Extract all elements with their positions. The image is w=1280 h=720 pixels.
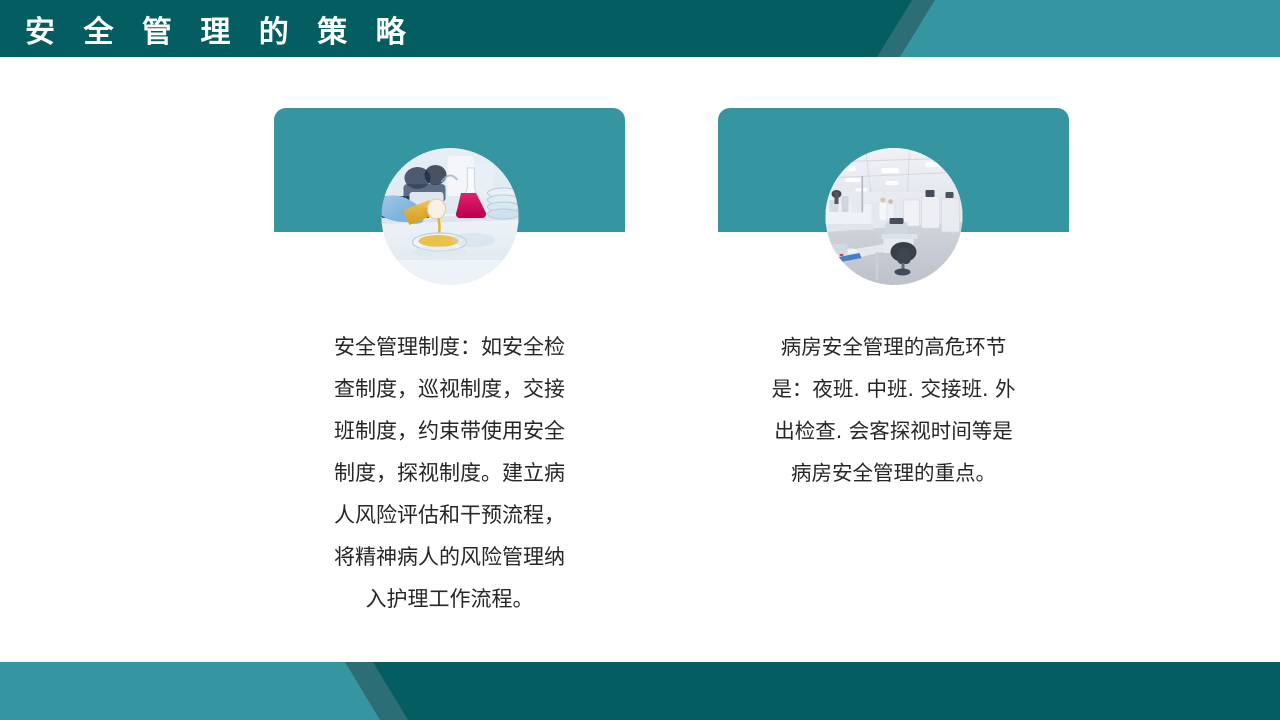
content-column-right: 病房安全管理的高危环节 是：夜班. 中班. 交接班. 外 出检查. 会客探视时间… [718, 108, 1069, 232]
hospital-ward-photo [825, 148, 962, 285]
slide-canvas: 安 全 管 理 的 策 略 [0, 0, 1280, 720]
header-bar: 安 全 管 理 的 策 略 [0, 0, 1280, 57]
left-body-text: 安全管理制度：如安全检 查制度，巡视制度，交接 班制度，约束带使用安全 制度，探… [274, 326, 625, 620]
laboratory-pipetting-photo [381, 148, 518, 285]
content-column-left: 安全管理制度：如安全检 查制度，巡视制度，交接 班制度，约束带使用安全 制度，探… [274, 108, 625, 232]
footer-bar [0, 662, 1280, 720]
slide-title: 安 全 管 理 的 策 略 [25, 0, 415, 57]
right-body-text: 病房安全管理的高危环节 是：夜班. 中班. 交接班. 外 出检查. 会客探视时间… [718, 326, 1069, 494]
